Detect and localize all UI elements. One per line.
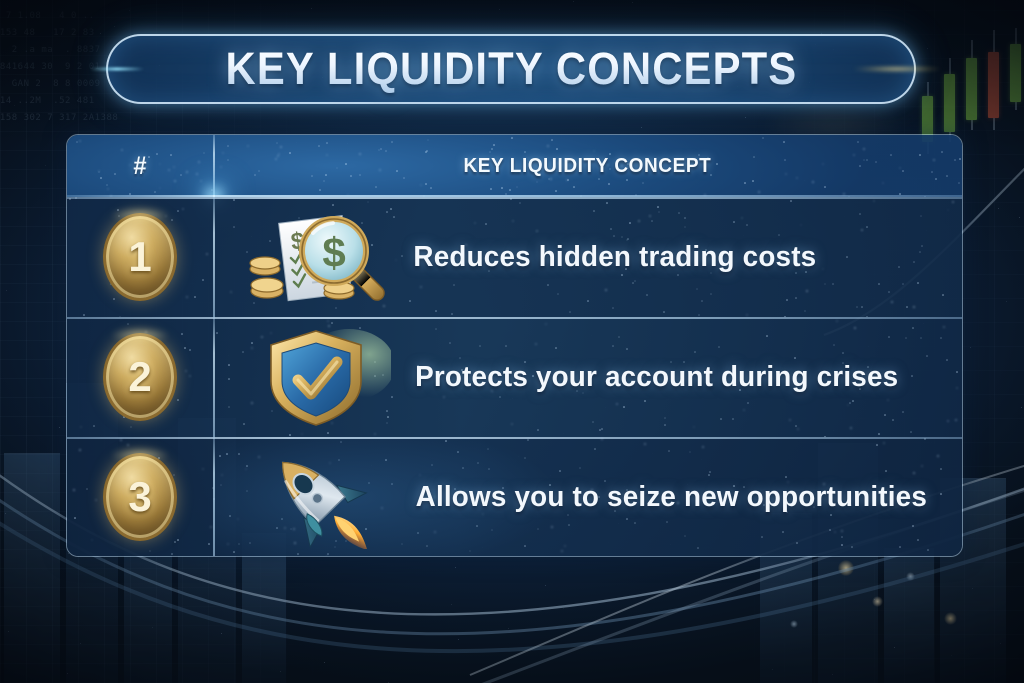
document-magnifier-dollar-coins-icon: $ — [241, 205, 391, 309]
row-concept-cell: $ — [213, 197, 962, 317]
rank-badge-number: 2 — [128, 356, 151, 398]
rank-badge-number: 1 — [128, 236, 151, 278]
header-cell-concept: KEY LIQUIDITY CONCEPT — [213, 135, 962, 197]
rank-badge: 2 — [103, 333, 177, 421]
row-concept-cell: Allows you to seize new opportunities — [213, 437, 962, 557]
slide-canvas: 3 7 1.08 4 0 .. 0153 48 17 2 83 9 2 .a m… — [0, 0, 1024, 683]
header-cell-number: # — [67, 135, 213, 197]
row-concept-label: Reduces hidden trading costs — [413, 241, 816, 274]
row-number-cell: 3 — [67, 437, 213, 557]
table-row[interactable]: 2 — [67, 317, 962, 437]
rank-badge: 3 — [103, 453, 177, 541]
title-banner: KEY LIQUIDITY CONCEPTS — [106, 34, 916, 104]
svg-text:$: $ — [322, 229, 345, 276]
rocket-launch-icon — [241, 445, 391, 549]
shield-checkmark-icon — [241, 325, 391, 429]
row-concept-cell: Protects your account during crises — [213, 317, 962, 437]
row-concept-label: Allows you to seize new opportunities — [416, 481, 927, 514]
table-row[interactable]: 1 — [67, 197, 962, 317]
row-number-cell: 1 — [67, 197, 213, 317]
key-liquidity-concepts-table: # KEY LIQUIDITY CONCEPT 1 — [66, 134, 963, 557]
header-concept-label: KEY LIQUIDITY CONCEPT — [464, 155, 712, 178]
rank-badge: 1 — [103, 213, 177, 301]
header-number-label: # — [133, 152, 147, 181]
row-number-cell: 2 — [67, 317, 213, 437]
rank-badge-number: 3 — [128, 476, 151, 518]
table-row[interactable]: 3 — [67, 437, 962, 557]
table-header-row: # KEY LIQUIDITY CONCEPT — [67, 135, 962, 197]
page-title: KEY LIQUIDITY CONCEPTS — [225, 43, 797, 95]
row-concept-label: Protects your account during crises — [415, 361, 898, 394]
